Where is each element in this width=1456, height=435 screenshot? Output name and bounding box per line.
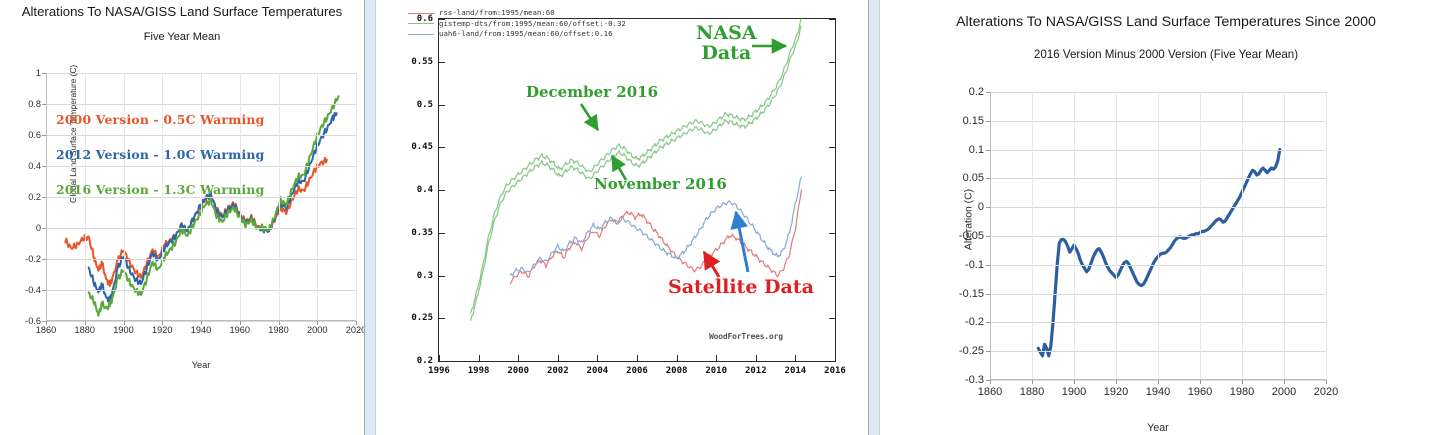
- x-tick-label: 2000: [1272, 386, 1296, 398]
- x-tick-label: 1960: [1188, 386, 1212, 398]
- x-tickmark: [439, 355, 440, 361]
- x-tick-label: 1980: [1230, 386, 1254, 398]
- gridline-v: [1074, 92, 1075, 380]
- annotation-november-2016: November 2016: [594, 177, 727, 193]
- y-tick-label: -0.05: [959, 230, 984, 242]
- x-tick-label: 2012: [745, 366, 767, 376]
- gridline-v: [1032, 92, 1033, 380]
- panel3-y-axis-label: Alteration (C): [964, 145, 975, 295]
- y-tick-label: 0.3: [417, 271, 433, 281]
- panel-middle-woodfortrees: 0.20.250.30.350.40.450.50.550.6199619982…: [376, 0, 868, 435]
- y-tickmark-right: [829, 19, 835, 20]
- x-tickmark: [637, 355, 638, 361]
- x-tick-label: 1880: [1020, 386, 1044, 398]
- x-tick-label: 2014: [785, 366, 807, 376]
- y-tick-label: 0: [978, 201, 984, 213]
- x-tickmark: [1284, 380, 1285, 384]
- x-tick-label: 1940: [1146, 386, 1170, 398]
- y-tick-label: 0.45: [411, 142, 433, 152]
- y-tickmark-right: [829, 276, 835, 277]
- y-tickmark-right: [829, 318, 835, 319]
- gridline-v: [85, 73, 86, 321]
- y-tickmark-right: [829, 190, 835, 191]
- y-tick-label: -0.4: [25, 285, 41, 295]
- x-tickmark: [716, 355, 717, 361]
- x-tickmark: [990, 380, 991, 384]
- y-tick-label: 0.2: [417, 356, 433, 366]
- panel2-legend-item-uah6: uah6-land/from:1995/mean:60/offset:0.16: [408, 29, 626, 40]
- legend-swatch-uah6: [408, 34, 434, 35]
- panel1-legend-2016: 2016 Version - 1.3C Warming: [56, 182, 264, 197]
- x-tickmark: [795, 355, 796, 361]
- panel3-subtitle: 2016 Version Minus 2000 Version (Five Ye…: [880, 48, 1452, 61]
- gridline-v: [356, 73, 357, 321]
- panel2-legend-item-rss: rss-land/from:1995/mean:60: [408, 8, 626, 19]
- x-axis-line: [990, 379, 1326, 380]
- y-tick-label: 0.8: [28, 99, 41, 109]
- y-tick-label: 0.5: [417, 100, 433, 110]
- y-tickmark: [439, 105, 445, 106]
- y-tick-label: 0.05: [963, 172, 984, 184]
- x-tickmark: [1074, 380, 1075, 384]
- x-tick-label: 1960: [230, 325, 250, 335]
- y-tick-label: 0.1: [969, 144, 984, 156]
- panel-right-alterations-since-2000: Alterations To NASA/GISS Land Surface Te…: [880, 0, 1452, 435]
- gridline-v: [1284, 92, 1285, 380]
- annotation-nasa-line1: NASA: [696, 24, 757, 44]
- x-tick-label: 2004: [587, 366, 609, 376]
- x-tick-label: 2020: [346, 325, 364, 335]
- legend-swatch-rss: [408, 13, 434, 14]
- panel-left-three-versions: Alterations To NASA/GISS Land Surface Te…: [0, 0, 364, 435]
- gridline-v: [1326, 92, 1327, 380]
- y-tickmark-right: [829, 361, 835, 362]
- gridline-v: [124, 73, 125, 321]
- gridline-v: [162, 73, 163, 321]
- three-panel-figure: Alterations To NASA/GISS Land Surface Te…: [0, 0, 1456, 435]
- annotation-nasa-data: NASA Data: [696, 24, 757, 64]
- y-tickmark: [439, 62, 445, 63]
- x-tick-label: 1860: [978, 386, 1002, 398]
- y-tick-label: 0.4: [417, 185, 433, 195]
- x-tickmark: [1200, 380, 1201, 384]
- gridline-v: [279, 73, 280, 321]
- x-tick-label: 2006: [626, 366, 648, 376]
- x-tick-label: 1900: [1062, 386, 1086, 398]
- x-tickmark: [1116, 380, 1117, 384]
- panel2-legend-item-gistemp: gistemp-dts/from:1995/mean:60/offset:-0.…: [408, 19, 626, 30]
- x-tick-label: 2016: [824, 366, 846, 376]
- x-axis-line: [46, 320, 356, 321]
- x-tick-label: 1880: [75, 325, 95, 335]
- x-tick-label: 2010: [705, 366, 727, 376]
- y-tick-label: -0.1: [965, 259, 984, 271]
- gridline-v: [1242, 92, 1243, 380]
- x-tickmark: [479, 355, 480, 361]
- legend-label-rss: rss-land/from:1995/mean:60: [439, 8, 555, 19]
- gridline-v: [317, 73, 318, 321]
- data-series-line: [65, 158, 327, 286]
- y-tickmark: [439, 361, 445, 362]
- x-tick-label: 1980: [268, 325, 288, 335]
- panel1-x-axis-label: Year: [46, 360, 356, 370]
- x-tickmark: [756, 355, 757, 361]
- y-tick-label: 0: [36, 223, 41, 233]
- x-tick-label: 2000: [507, 366, 529, 376]
- annotation-december-2016: December 2016: [526, 85, 658, 101]
- y-tick-label: -0.2: [25, 254, 41, 264]
- panel1-plot-area: Global Land Surface Temperature (C) Year…: [46, 73, 356, 321]
- y-tick-label: 0.4: [28, 161, 41, 171]
- x-tick-label: 1920: [152, 325, 172, 335]
- x-tick-label: 2000: [307, 325, 327, 335]
- x-tick-label: 1920: [1104, 386, 1128, 398]
- panel3-plot-area: Alteration (C) Year -0.3-0.25-0.2-0.15-0…: [990, 92, 1326, 380]
- y-tick-label: 0.25: [411, 313, 433, 323]
- panel3-title: Alterations To NASA/GISS Land Surface Te…: [880, 14, 1452, 30]
- y-tick-label: 0.6: [28, 130, 41, 140]
- x-tickmark: [835, 355, 836, 361]
- annotation-nasa-line2: Data: [696, 44, 757, 64]
- x-tickmark: [1032, 380, 1033, 384]
- panel3-x-axis-label: Year: [990, 422, 1326, 434]
- x-tick-label: 1998: [468, 366, 490, 376]
- y-tick-label: 0.2: [969, 86, 984, 98]
- y-tick-label: 0.55: [411, 57, 433, 67]
- x-tick-label: 1860: [36, 325, 56, 335]
- data-series-line: [89, 96, 339, 316]
- legend-label-uah6: uah6-land/from:1995/mean:60/offset:0.16: [439, 29, 613, 40]
- gridline-v: [1116, 92, 1117, 380]
- x-tickmark: [1158, 380, 1159, 384]
- panel-divider-1: [364, 0, 376, 435]
- y-tick-label: -0.15: [959, 288, 984, 300]
- annotation-satellite-data: Satellite Data: [668, 278, 814, 298]
- x-tick-label: 2002: [547, 366, 569, 376]
- x-tick-label: 1940: [191, 325, 211, 335]
- x-tick-label: 1900: [113, 325, 133, 335]
- panel1-title: Alterations To NASA/GISS Land Surface Te…: [0, 4, 364, 19]
- x-tickmark: [558, 355, 559, 361]
- panel2-legend: rss-land/from:1995/mean:60 gistemp-dts/f…: [408, 8, 626, 40]
- legend-label-gistemp: gistemp-dts/from:1995/mean:60/offset:-0.…: [439, 19, 626, 30]
- y-tickmark-right: [829, 105, 835, 106]
- y-axis-line: [46, 73, 47, 321]
- y-tickmark: [439, 276, 445, 277]
- x-tick-label: 1996: [428, 366, 450, 376]
- x-tickmark: [1242, 380, 1243, 384]
- y-tick-label: 0.15: [963, 115, 984, 127]
- y-tickmark-right: [829, 147, 835, 148]
- panel1-legend-2012: 2012 Version - 1.0C Warming: [56, 147, 264, 162]
- x-tickmark: [677, 355, 678, 361]
- y-tick-label: 0.2: [28, 192, 41, 202]
- panel1-subtitle: Five Year Mean: [0, 31, 364, 43]
- y-tickmark-right: [829, 62, 835, 63]
- y-tick-label: -0.3: [965, 374, 984, 386]
- y-tickmark: [439, 147, 445, 148]
- y-tickmark-right: [829, 233, 835, 234]
- gridline-v: [201, 73, 202, 321]
- panel1-legend-2000: 2000 Version - 0.5C Warming: [56, 112, 264, 127]
- y-tickmark: [439, 318, 445, 319]
- x-tickmark: [1326, 380, 1327, 384]
- y-tickmark: [439, 190, 445, 191]
- y-axis-line: [990, 92, 991, 380]
- y-tick-label: -0.2: [965, 316, 984, 328]
- gridline-v: [1200, 92, 1201, 380]
- data-series-line: [510, 190, 801, 284]
- y-tick-label: -0.25: [959, 345, 984, 357]
- gridline-v: [1158, 92, 1159, 380]
- gridline-v: [240, 73, 241, 321]
- x-tick-label: 2008: [666, 366, 688, 376]
- x-tick-label: 2020: [1314, 386, 1338, 398]
- y-tickmark: [439, 233, 445, 234]
- panel-divider-2: [868, 0, 880, 435]
- y-tick-label: 0.35: [411, 228, 433, 238]
- legend-swatch-gistemp: [408, 23, 434, 24]
- watermark-woodfortrees: WoodForTrees.org: [709, 332, 783, 341]
- y-tick-label: 1: [36, 68, 41, 78]
- x-tickmark: [518, 355, 519, 361]
- x-tickmark: [597, 355, 598, 361]
